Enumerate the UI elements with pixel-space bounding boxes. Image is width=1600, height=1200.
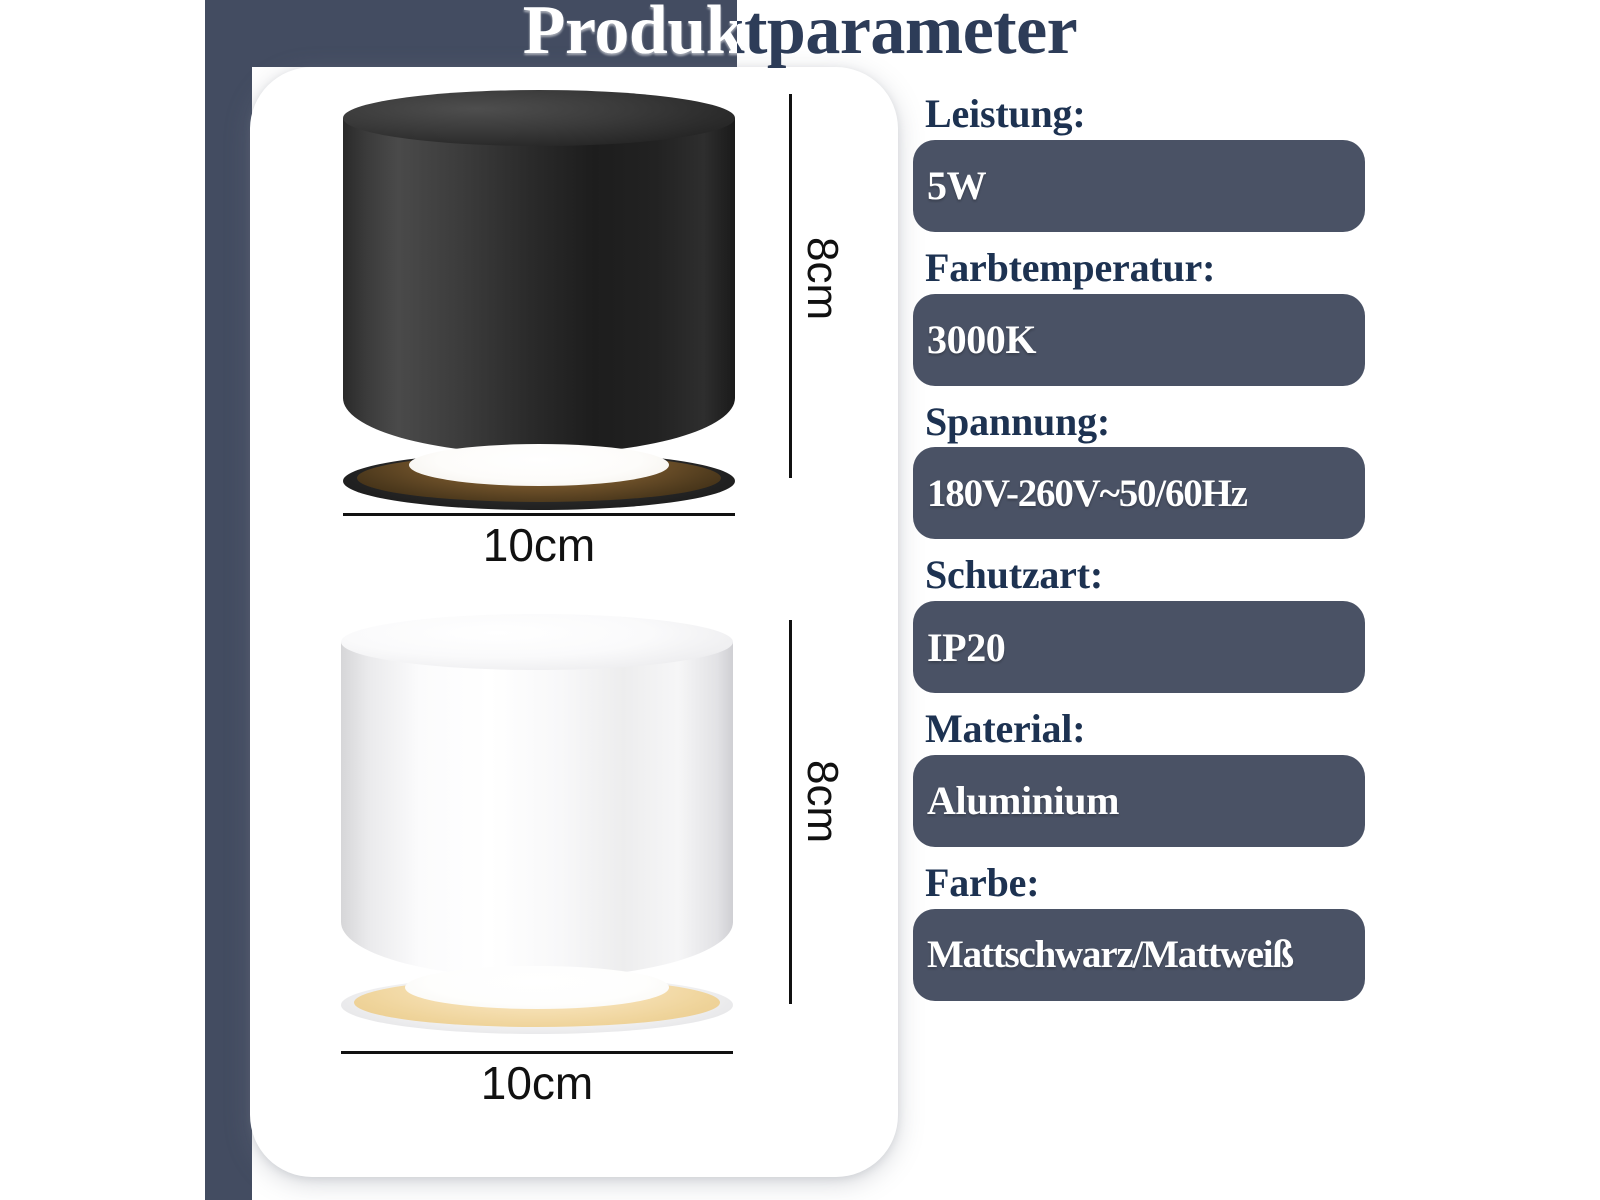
spec-label-spannung: Spannung: <box>913 400 1365 445</box>
spec-pill-schutzart: IP20 <box>913 601 1365 693</box>
spec-label-farbe: Farbe: <box>913 861 1365 906</box>
black-height-dimension-line <box>789 94 792 478</box>
black-width-dimension-label: 10cm <box>343 518 735 572</box>
spec-value-material: Aluminium <box>913 777 1119 824</box>
white-lamp-cylinder <box>341 642 733 978</box>
spec-value-schutzart: IP20 <box>913 624 1005 671</box>
spec-label-material: Material: <box>913 707 1365 752</box>
white-lamp-body <box>341 614 733 1006</box>
spec-row-leistung: Leistung: 5W <box>913 92 1365 232</box>
spec-row-spannung: Spannung: 180V-260V~50/60Hz <box>913 400 1365 540</box>
infographic-canvas: Produktparameter Produktparameter 8cm 10… <box>0 0 1600 1200</box>
black-height-dimension-label: 8cm <box>797 237 847 320</box>
black-lamp-cylinder <box>343 118 735 454</box>
white-height-dimension-label: 8cm <box>797 760 847 843</box>
specification-list: Leistung: 5W Farbtemperatur: 3000K Spann… <box>913 92 1365 1015</box>
black-lamp-led-diffuser <box>409 444 669 486</box>
white-width-dimension-label: 10cm <box>341 1056 733 1110</box>
black-width-dimension-line <box>343 513 735 516</box>
spec-row-farbe: Farbe: Mattschwarz/Mattweiß <box>913 861 1365 1001</box>
black-spotlight-image <box>343 90 735 482</box>
spec-pill-farbtemperatur: 3000K <box>913 294 1365 386</box>
spec-value-farbe: Mattschwarz/Mattweiß <box>913 932 1293 977</box>
white-lamp-led-diffuser <box>405 966 669 1009</box>
black-lamp-top-ellipse <box>343 90 735 146</box>
spec-row-farbtemperatur: Farbtemperatur: 3000K <box>913 246 1365 386</box>
spec-row-schutzart: Schutzart: IP20 <box>913 553 1365 693</box>
spec-label-farbtemperatur: Farbtemperatur: <box>913 246 1365 291</box>
spec-label-schutzart: Schutzart: <box>913 553 1365 598</box>
spec-value-farbtemperatur: 3000K <box>913 316 1036 363</box>
spec-pill-farbe: Mattschwarz/Mattweiß <box>913 909 1365 1001</box>
spec-row-material: Material: Aluminium <box>913 707 1365 847</box>
spec-value-spannung: 180V-260V~50/60Hz <box>913 471 1247 516</box>
spec-pill-spannung: 180V-260V~50/60Hz <box>913 447 1365 539</box>
black-lamp-body <box>343 90 735 482</box>
white-spotlight-image <box>341 614 733 1006</box>
white-width-dimension-line <box>341 1051 733 1054</box>
page-title-inverse: Produktparameter <box>205 0 737 66</box>
page-title-inverse-clip: Produktparameter <box>205 0 737 67</box>
spec-pill-material: Aluminium <box>913 755 1365 847</box>
spec-pill-leistung: 5W <box>913 140 1365 232</box>
spec-value-leistung: 5W <box>913 162 986 209</box>
white-lamp-top-ellipse <box>341 614 733 670</box>
white-height-dimension-line <box>789 620 792 1004</box>
spec-label-leistung: Leistung: <box>913 92 1365 137</box>
